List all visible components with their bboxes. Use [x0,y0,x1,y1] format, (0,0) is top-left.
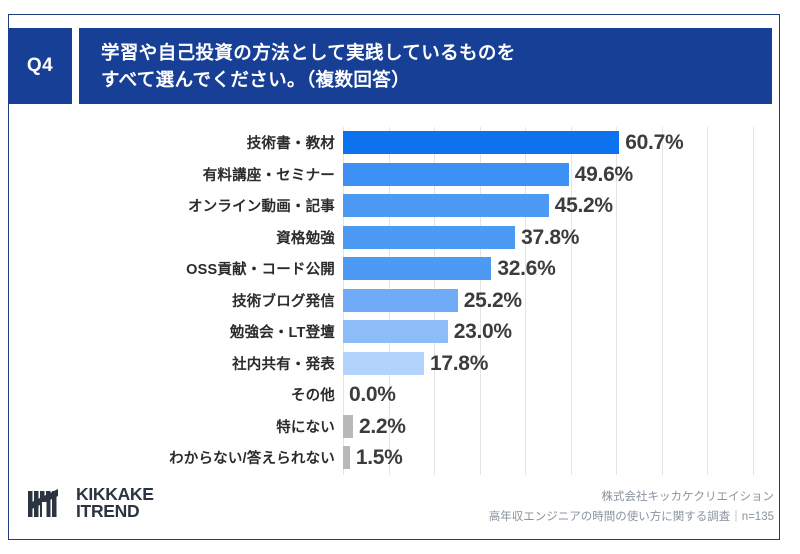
slide-canvas: Q4 学習や自己投資の方法として実践しているものを すべて選んでください。（複数… [0,0,800,554]
question-title-bar: 学習や自己投資の方法として実践しているものを すべて選んでください。（複数回答） [79,28,772,104]
bar-category-label: OSS貢献・コード公開 [20,258,335,279]
slide-footer: KIKKAKE ITREND 株式会社キッカケクリエイション 高年収エンジニアの… [0,485,800,540]
bar-value-label: 37.8% [521,222,579,254]
bar-category-label: 資格勉強 [20,227,335,248]
bar-value-label: 0.0% [349,379,396,411]
bar-value-label: 1.5% [356,442,403,474]
bar-category-label: わからない/答えられない [20,447,335,468]
bar-category-label: その他 [20,384,335,405]
company-name: 株式会社キッカケクリエイション [489,487,774,507]
bar-value-label: 49.6% [575,159,633,191]
bar-row: 有料講座・セミナー49.6% [0,159,800,191]
bar-value-label: 32.6% [497,253,555,285]
logo-word-itrend: ITREND [76,503,154,520]
bar-row: 技術ブログ発信25.2% [0,285,800,317]
bar-segment [343,194,549,217]
bar-value-label: 23.0% [454,316,512,348]
bar-value-label: 60.7% [625,127,683,159]
bar-category-label: 社内共有・発表 [20,353,335,374]
bar-row: OSS貢献・コード公開32.6% [0,253,800,285]
bar-row: 資格勉強37.8% [0,222,800,254]
kikkake-trend-logo: KIKKAKE ITREND [28,485,154,521]
bar-segment [343,131,619,154]
bar-segment [343,257,491,280]
bar-row: オンライン動画・記事45.2% [0,190,800,222]
bar-row: わからない/答えられない1.5% [0,442,800,474]
bar-segment [343,446,350,469]
bar-value-label: 17.8% [430,348,488,380]
bar-row: 社内共有・発表17.8% [0,348,800,380]
bar-row: その他0.0% [0,379,800,411]
question-header: Q4 学習や自己投資の方法として実践しているものを すべて選んでください。（複数… [8,28,772,104]
bar-segment [343,163,569,186]
logo-wordmark: KIKKAKE ITREND [76,486,154,520]
question-title-line-1: 学習や自己投資の方法として実践しているものを [101,39,772,66]
bar-category-label: 技術書・教材 [20,132,335,153]
question-number-badge: Q4 [8,28,72,104]
bar-segment [343,415,353,438]
bar-segment [343,226,515,249]
bar-segment [343,320,448,343]
bar-value-label: 2.2% [359,411,406,443]
bar-row: 特にない2.2% [0,411,800,443]
bar-category-label: 技術ブログ発信 [20,290,335,311]
survey-name: 高年収エンジニアの時間の使い方に関する調査｜n=135 [489,507,774,527]
bar-chart: 技術書・教材60.7%有料講座・セミナー49.6%オンライン動画・記事45.2%… [0,127,800,477]
bar-segment [343,352,424,375]
bar-category-label: オンライン動画・記事 [20,195,335,216]
bar-value-label: 25.2% [464,285,522,317]
bar-row: 勉強会・LT登壇23.0% [0,316,800,348]
bar-category-label: 有料講座・セミナー [20,164,335,185]
bar-value-label: 45.2% [555,190,613,222]
bar-segment [343,289,458,312]
attribution-block: 株式会社キッカケクリエイション 高年収エンジニアの時間の使い方に関する調査｜n=… [489,487,774,527]
logo-bars-icon [28,485,70,521]
bar-category-label: 勉強会・LT登壇 [20,321,335,342]
bar-row: 技術書・教材60.7% [0,127,800,159]
bar-category-label: 特にない [20,416,335,437]
question-title-line-2: すべて選んでください。（複数回答） [101,66,772,93]
